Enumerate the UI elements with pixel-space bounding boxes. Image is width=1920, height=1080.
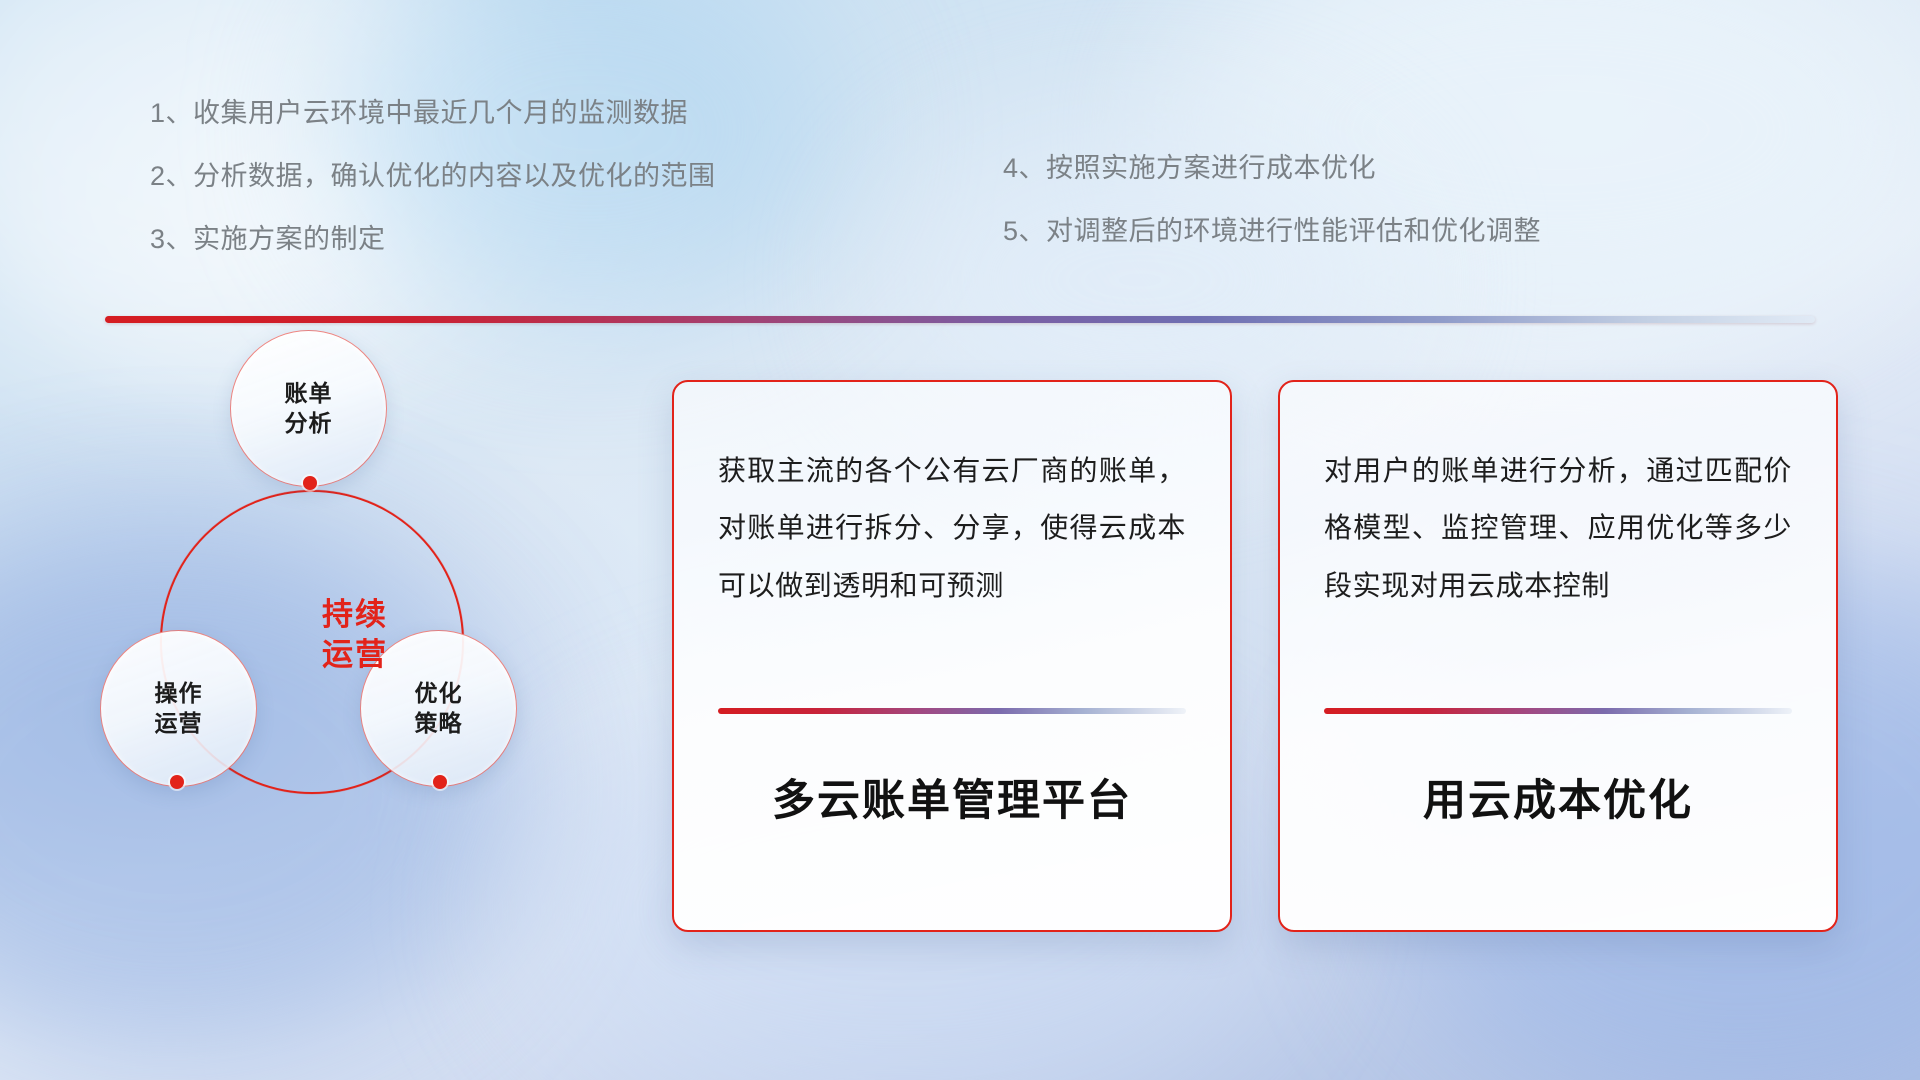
steps-right-column: 4、按照实施方案进行成本优化 5、对调整后的环境进行性能评估和优化调整	[1003, 155, 1541, 245]
card-accent-rule	[718, 708, 1186, 714]
node-label: 操作 运营	[155, 679, 203, 738]
node-label-line2: 分析	[285, 410, 333, 436]
node-label-line2: 运营	[155, 710, 203, 736]
step-item-2: 2、分析数据，确认优化的内容以及优化的范围	[150, 163, 716, 190]
center-label-line1: 持续	[322, 597, 388, 632]
card-cloud-cost-optimization[interactable]: 对用户的账单进行分析，通过匹配价格模型、监控管理、应用优化等多少段实现对用云成本…	[1278, 380, 1838, 932]
card-multicloud-billing-platform[interactable]: 获取主流的各个公有云厂商的账单，对账单进行拆分、分享，使得云成本可以做到透明和可…	[672, 380, 1232, 932]
node-label-line1: 账单	[285, 380, 333, 406]
card-title: 多云账单管理平台	[718, 766, 1186, 828]
step-item-3: 3、实施方案的制定	[150, 226, 716, 253]
card-title: 用云成本优化	[1324, 766, 1792, 828]
node-label: 账单 分析	[285, 379, 333, 438]
card-body-text: 获取主流的各个公有云厂商的账单，对账单进行拆分、分享，使得云成本可以做到透明和可…	[718, 442, 1186, 682]
center-label-line2: 运营	[322, 637, 388, 672]
diagram-node-bill-analysis[interactable]: 账单 分析	[230, 330, 387, 487]
step-item-1: 1、收集用户云环境中最近几个月的监测数据	[150, 100, 716, 127]
step-item-5: 5、对调整后的环境进行性能评估和优化调整	[1003, 218, 1541, 245]
continuous-operations-diagram: 账单 分析 操作 运营 优化 策略 持续 运营	[95, 330, 565, 950]
node-label-line1: 操作	[155, 680, 203, 706]
steps-left-column: 1、收集用户云环境中最近几个月的监测数据 2、分析数据，确认优化的内容以及优化的…	[150, 100, 716, 253]
slide-canvas: 1、收集用户云环境中最近几个月的监测数据 2、分析数据，确认优化的内容以及优化的…	[0, 0, 1920, 1080]
card-body-text: 对用户的账单进行分析，通过匹配价格模型、监控管理、应用优化等多少段实现对用云成本…	[1324, 442, 1792, 682]
connector-dot-left-icon	[170, 775, 184, 789]
node-label-line2: 策略	[415, 710, 463, 736]
connector-dot-right-icon	[433, 775, 447, 789]
step-item-4: 4、按照实施方案进行成本优化	[1003, 155, 1541, 182]
card-accent-rule	[1324, 708, 1792, 714]
connector-dot-top-icon	[303, 476, 317, 490]
node-label-line1: 优化	[415, 680, 463, 706]
section-divider	[105, 316, 1815, 323]
node-label: 优化 策略	[415, 679, 463, 738]
diagram-center-label: 持续 运营	[95, 595, 565, 676]
